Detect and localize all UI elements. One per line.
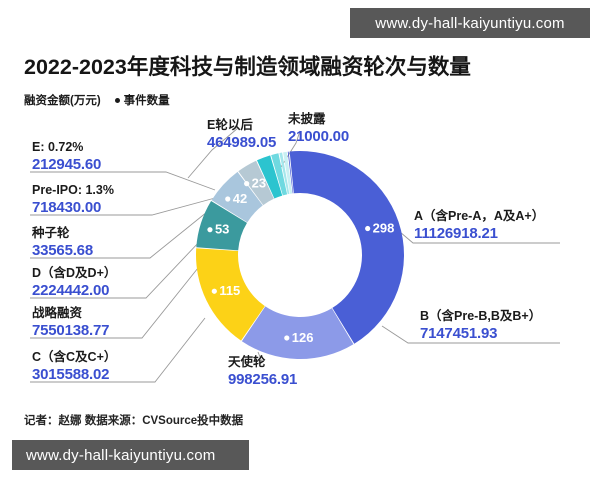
watermark-bottom: www.dy-hall-kaiyuntiyu.com	[12, 440, 249, 470]
callout-a-value: 11126918.21	[414, 225, 544, 243]
donut-slice-a[interactable]	[290, 151, 404, 344]
callout-preipo: Pre-IPO: 1.3% 718430.00	[32, 183, 114, 217]
callout-epost-value: 464989.05	[207, 134, 276, 152]
callout-preipo-value: 718430.00	[32, 199, 114, 217]
legend-item-amount: 融资金额(万元)	[24, 92, 101, 108]
callout-angel-value: 998256.91	[228, 371, 297, 389]
slice-count-c: 53	[215, 222, 229, 237]
callout-b-value: 7147451.93	[420, 325, 541, 343]
callout-d-value: 2224442.00	[32, 282, 116, 300]
callout-angel-label: 天使轮	[228, 355, 297, 371]
footer-credit: 记者：赵娜 数据来源：CVSource投中数据	[24, 412, 243, 428]
callout-e-label: E: 0.72%	[32, 140, 101, 156]
callout-c-value: 3015588.02	[32, 366, 116, 384]
slice-count-dot-strategic	[225, 196, 230, 201]
callout-strategic-value: 7550138.77	[32, 322, 109, 340]
callout-a-label: A（含Pre-A，A及A+）	[414, 209, 544, 225]
callout-seed-label: 种子轮	[32, 226, 93, 242]
callout-seed-value: 33565.68	[32, 242, 93, 260]
callout-epost: E轮以后 464989.05	[207, 118, 276, 152]
legend-item-count: 事件数量	[115, 92, 170, 108]
callout-strategic-label: 战略融资	[32, 306, 109, 322]
callout-undisclosed-value: 21000.00	[288, 128, 349, 146]
slice-count-b: 126	[292, 330, 314, 345]
legend-dot-icon	[115, 98, 120, 103]
donut-chart: 298126115534223169452	[193, 148, 407, 362]
page-title: 2022-2023年度科技与制造领域融资轮次与数量	[24, 50, 471, 81]
callout-e-value: 212945.60	[32, 156, 101, 174]
slice-count-dot-b	[284, 335, 289, 340]
slice-count-dot-angel	[212, 289, 217, 294]
callout-undisclosed: 未披露 21000.00	[288, 112, 349, 146]
donut-chart-svg: 298126115534223169452	[193, 148, 407, 362]
callout-c-label: C（含C及C+）	[32, 350, 116, 366]
callout-e: E: 0.72% 212945.60	[32, 140, 101, 174]
callout-strategic: 战略融资 7550138.77	[32, 306, 109, 340]
callout-d-label: D（含D及D+）	[32, 266, 116, 282]
watermark-top: www.dy-hall-kaiyuntiyu.com	[350, 8, 590, 38]
chart-legend: 融资金额(万元) 事件数量	[24, 92, 170, 108]
slice-count-dot-c	[207, 227, 212, 232]
slice-count-angel: 115	[219, 283, 240, 298]
callout-c: C（含C及C+） 3015588.02	[32, 350, 116, 384]
callout-b: B（含Pre-B,B及B+） 7147451.93	[420, 309, 541, 343]
legend-amount-label: 融资金额(万元)	[24, 92, 101, 108]
callout-preipo-label: Pre-IPO: 1.3%	[32, 183, 114, 199]
slice-count-dot-a	[365, 226, 370, 231]
slice-count-dot-d	[244, 181, 249, 186]
callout-seed: 种子轮 33565.68	[32, 226, 93, 260]
callout-d: D（含D及D+） 2224442.00	[32, 266, 116, 300]
callout-epost-label: E轮以后	[207, 118, 276, 134]
callout-angel: 天使轮 998256.91	[228, 355, 297, 389]
callout-a: A（含Pre-A，A及A+） 11126918.21	[414, 209, 544, 243]
slice-count-a: 298	[373, 220, 395, 235]
slice-count-d: 23	[252, 176, 266, 191]
legend-count-label: 事件数量	[124, 92, 170, 108]
slice-count-strategic: 42	[233, 191, 247, 206]
callout-b-label: B（含Pre-B,B及B+）	[420, 309, 541, 325]
callout-undisclosed-label: 未披露	[288, 112, 349, 128]
